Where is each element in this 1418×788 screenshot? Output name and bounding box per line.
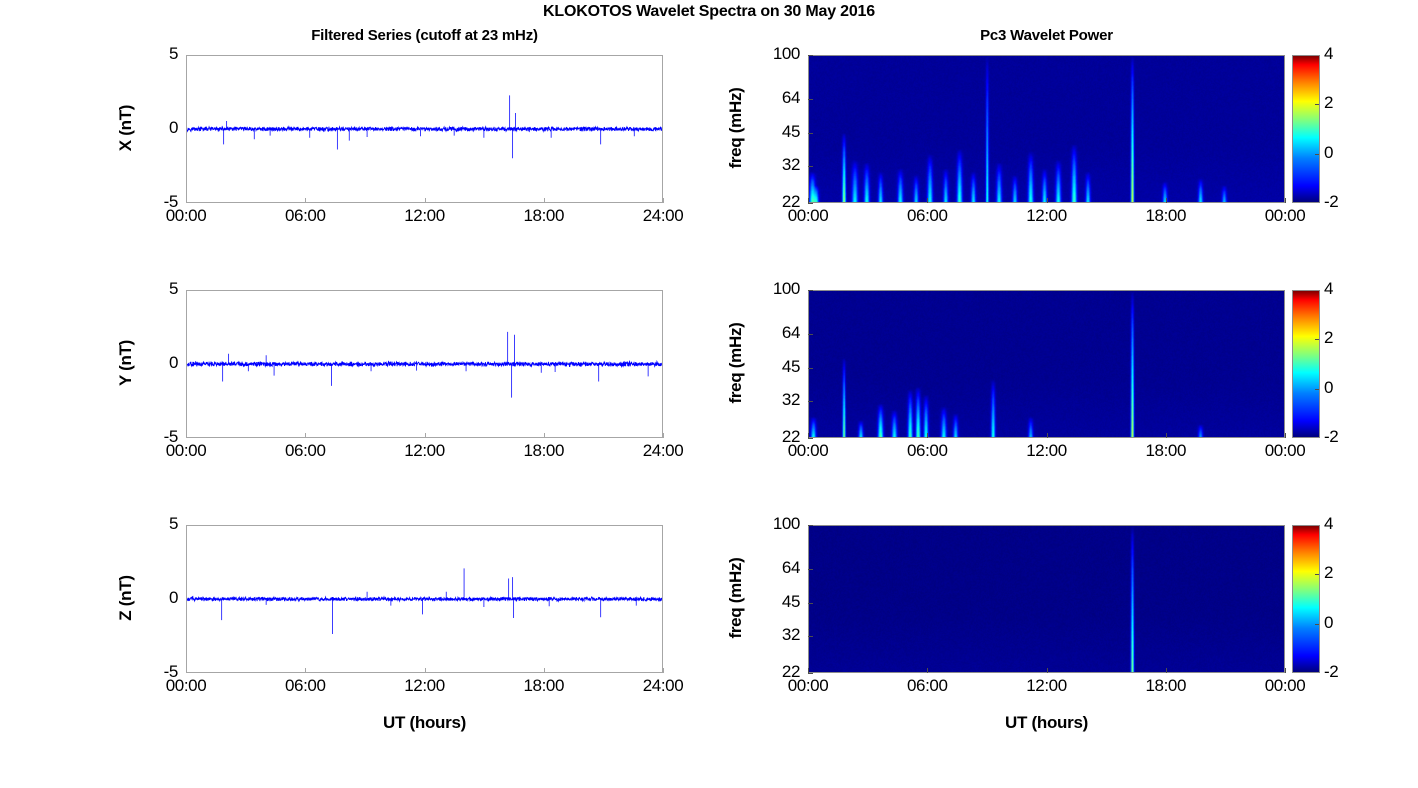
series-xtickmark xyxy=(544,198,545,203)
spec-xtickmark xyxy=(1285,433,1286,438)
series-xtickmark xyxy=(544,668,545,673)
figure-canvas: KLOKOTOS Wavelet Spectra on 30 May 2016 … xyxy=(0,0,1418,788)
spec-ytick-y-32: 32 xyxy=(746,390,800,410)
series-xtick-y-2: 12:00 xyxy=(380,441,470,461)
colorbar-tick-z-0: 0 xyxy=(1324,613,1354,633)
colorbar-tickmark xyxy=(1315,389,1319,390)
series-xtick-x-1: 06:00 xyxy=(260,206,350,226)
series-axes-y xyxy=(186,290,663,438)
series-xtick-z-1: 06:00 xyxy=(260,676,350,696)
spec-xtick-z-4: 00:00 xyxy=(1240,676,1330,696)
spec-ylabel-y: freq (mHz) xyxy=(726,283,746,443)
spec-xtick-x-2: 12:00 xyxy=(1002,206,1092,226)
spec-ytickmark xyxy=(808,133,813,134)
series-xtickmark xyxy=(305,198,306,203)
spectrogram-axes-x xyxy=(808,55,1285,203)
spec-xtickmark xyxy=(1047,668,1048,673)
spec-xtick-y-2: 12:00 xyxy=(1002,441,1092,461)
series-xtickmark xyxy=(663,198,664,203)
series-xtick-x-2: 12:00 xyxy=(380,206,470,226)
colorbar-tickmark xyxy=(1315,339,1319,340)
spec-xtick-z-3: 18:00 xyxy=(1121,676,1211,696)
colorbar-tick-y-0: 0 xyxy=(1324,378,1354,398)
spec-xtickmark xyxy=(808,198,809,203)
colorbar-tickmark xyxy=(1315,154,1319,155)
spec-xtickmark xyxy=(1047,198,1048,203)
series-xtickmark xyxy=(305,668,306,673)
spec-xtick-y-3: 18:00 xyxy=(1121,441,1211,461)
series-xtickmark xyxy=(663,433,664,438)
spec-xtickmark xyxy=(927,668,928,673)
spec-ylabel-x: freq (mHz) xyxy=(726,48,746,208)
series-xtickmark xyxy=(425,668,426,673)
spec-xtickmark xyxy=(1047,433,1048,438)
colorbar-tick-y--2: -2 xyxy=(1324,427,1354,447)
figure-title: KLOKOTOS Wavelet Spectra on 30 May 2016 xyxy=(0,3,1418,21)
colorbar-z xyxy=(1292,525,1320,673)
spec-xtickmark xyxy=(927,198,928,203)
spec-ytick-z-32: 32 xyxy=(746,625,800,645)
spectrogram-image-x xyxy=(809,56,1284,202)
spec-xtickmark xyxy=(1166,433,1167,438)
spec-xtickmark xyxy=(927,433,928,438)
series-xtick-z-4: 24:00 xyxy=(618,676,708,696)
spec-xtick-y-4: 00:00 xyxy=(1240,441,1330,461)
series-xtick-x-3: 18:00 xyxy=(499,206,589,226)
series-trace-y xyxy=(187,291,662,437)
series-xtick-x-0: 00:00 xyxy=(141,206,231,226)
colorbar-tick-y-2: 2 xyxy=(1324,328,1354,348)
series-xtick-y-4: 24:00 xyxy=(618,441,708,461)
colorbar-tick-x--2: -2 xyxy=(1324,192,1354,212)
colorbar-tick-z--2: -2 xyxy=(1324,662,1354,682)
spec-ytickmark xyxy=(808,55,813,56)
series-xtick-y-1: 06:00 xyxy=(260,441,350,461)
spec-ytickmark xyxy=(808,290,813,291)
series-xtickmark xyxy=(186,433,187,438)
spec-ytick-x-64: 64 xyxy=(746,88,800,108)
spec-ytick-x-100: 100 xyxy=(746,44,800,64)
colorbar-tickmark xyxy=(1315,104,1319,105)
left-column-title: Filtered Series (cutoff at 23 mHz) xyxy=(186,27,663,44)
series-xtick-z-2: 12:00 xyxy=(380,676,470,696)
colorbar-tick-x-4: 4 xyxy=(1324,44,1354,64)
spec-ylabel-z: freq (mHz) xyxy=(726,518,746,678)
spec-xtick-x-4: 00:00 xyxy=(1240,206,1330,226)
spec-ytickmark xyxy=(808,673,813,674)
series-xtickmark xyxy=(186,198,187,203)
spec-ytick-z-64: 64 xyxy=(746,558,800,578)
spectrogram-axes-y xyxy=(808,290,1285,438)
colorbar-tickmark xyxy=(1315,624,1319,625)
spec-ytickmark xyxy=(808,166,813,167)
series-xtickmark xyxy=(186,668,187,673)
series-xtickmark xyxy=(425,433,426,438)
series-axes-z xyxy=(186,525,663,673)
series-ylabel-x: X (nT) xyxy=(116,58,136,198)
spec-xtick-z-0: 00:00 xyxy=(763,676,853,696)
series-xtick-y-3: 18:00 xyxy=(499,441,589,461)
spec-ytickmark xyxy=(808,203,813,204)
spec-ytick-x-32: 32 xyxy=(746,155,800,175)
colorbar-x xyxy=(1292,55,1320,203)
spec-xtick-x-0: 00:00 xyxy=(763,206,853,226)
spec-ytickmark xyxy=(808,334,813,335)
colorbar-tick-z-2: 2 xyxy=(1324,563,1354,583)
series-axes-x xyxy=(186,55,663,203)
spec-ytickmark xyxy=(808,636,813,637)
spec-xtick-x-1: 06:00 xyxy=(882,206,972,226)
spec-ytick-y-45: 45 xyxy=(746,357,800,377)
spec-ytick-y-64: 64 xyxy=(746,323,800,343)
spec-xtickmark xyxy=(1166,668,1167,673)
colorbar-y xyxy=(1292,290,1320,438)
series-xtickmark xyxy=(544,433,545,438)
right-column-title: Pc3 Wavelet Power xyxy=(808,27,1285,44)
spec-ytickmark xyxy=(808,438,813,439)
spec-ytickmark xyxy=(808,569,813,570)
spec-xtickmark xyxy=(1285,668,1286,673)
spec-xtick-z-1: 06:00 xyxy=(882,676,972,696)
spec-ytickmark xyxy=(808,99,813,100)
spec-xtickmark xyxy=(808,433,809,438)
spec-xtickmark xyxy=(1285,198,1286,203)
series-ylabel-y: Y (nT) xyxy=(116,293,136,433)
spectrogram-axes-z xyxy=(808,525,1285,673)
spec-ytick-y-100: 100 xyxy=(746,279,800,299)
colorbar-tickmark xyxy=(1315,574,1319,575)
series-trace-z xyxy=(187,526,662,672)
colorbar-tick-x-0: 0 xyxy=(1324,143,1354,163)
spectrogram-image-z xyxy=(809,526,1284,672)
series-xtick-y-0: 00:00 xyxy=(141,441,231,461)
spec-xtick-y-1: 06:00 xyxy=(882,441,972,461)
spec-ytick-x-45: 45 xyxy=(746,122,800,142)
spec-ytickmark xyxy=(808,401,813,402)
series-xtickmark xyxy=(663,668,664,673)
left-xaxis-title: UT (hours) xyxy=(186,713,663,733)
series-xtick-z-0: 00:00 xyxy=(141,676,231,696)
spec-ytickmark xyxy=(808,603,813,604)
colorbar-tick-x-2: 2 xyxy=(1324,93,1354,113)
series-xtick-z-3: 18:00 xyxy=(499,676,589,696)
right-xaxis-title: UT (hours) xyxy=(808,713,1285,733)
series-ylabel-z: Z (nT) xyxy=(116,528,136,668)
series-xtickmark xyxy=(305,433,306,438)
colorbar-tick-z-4: 4 xyxy=(1324,514,1354,534)
spec-ytick-z-100: 100 xyxy=(746,514,800,534)
series-xtickmark xyxy=(425,198,426,203)
spec-ytick-z-45: 45 xyxy=(746,592,800,612)
series-xtick-x-4: 24:00 xyxy=(618,206,708,226)
spec-xtick-y-0: 00:00 xyxy=(763,441,853,461)
spec-xtickmark xyxy=(1166,198,1167,203)
colorbar-tick-y-4: 4 xyxy=(1324,279,1354,299)
series-trace-x xyxy=(187,56,662,202)
spectrogram-image-y xyxy=(809,291,1284,437)
spec-ytickmark xyxy=(808,368,813,369)
spec-ytickmark xyxy=(808,525,813,526)
spec-xtickmark xyxy=(808,668,809,673)
spec-xtick-z-2: 12:00 xyxy=(1002,676,1092,696)
spec-xtick-x-3: 18:00 xyxy=(1121,206,1211,226)
